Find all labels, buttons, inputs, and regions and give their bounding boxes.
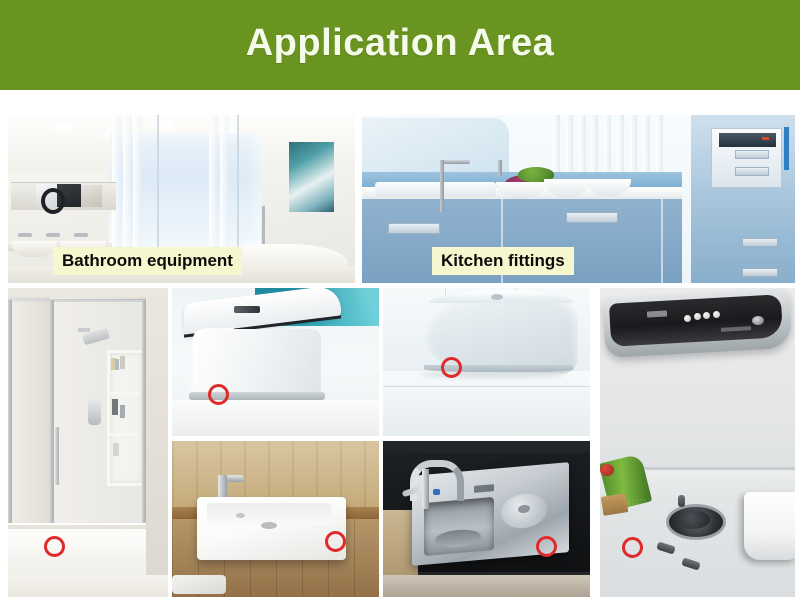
sealant-marker-vanity-basin — [325, 531, 346, 552]
bathroom-equipment-caption: Bathroom equipment — [53, 247, 242, 275]
toilet-photo — [172, 288, 379, 436]
kitchen-sink-photo — [383, 441, 590, 597]
bathroom-equipment-photo: Bathroom equipment — [8, 115, 355, 283]
sealant-marker-gas-stove — [622, 537, 643, 558]
kitchen-fittings-photo: Kitchen fittings — [362, 115, 795, 283]
sealant-marker-shower — [44, 536, 65, 557]
kitchen-fittings-caption: Kitchen fittings — [432, 247, 574, 275]
range-hood-and-gas-stove-photo — [600, 288, 795, 597]
sealant-marker-toilet — [208, 384, 229, 405]
bathtub-photo — [383, 288, 590, 436]
page-header: Application Area — [0, 0, 800, 90]
application-area-banner: Application Area — [0, 0, 800, 607]
shower-enclosure-photo — [8, 288, 168, 597]
vanity-basin-photo — [172, 441, 379, 597]
application-gallery: Bathroom equipment — [0, 90, 800, 607]
sealant-marker-kitchen-sink — [536, 536, 557, 557]
sealant-marker-bathtub — [441, 357, 462, 378]
page-title: Application Area — [246, 22, 555, 69]
